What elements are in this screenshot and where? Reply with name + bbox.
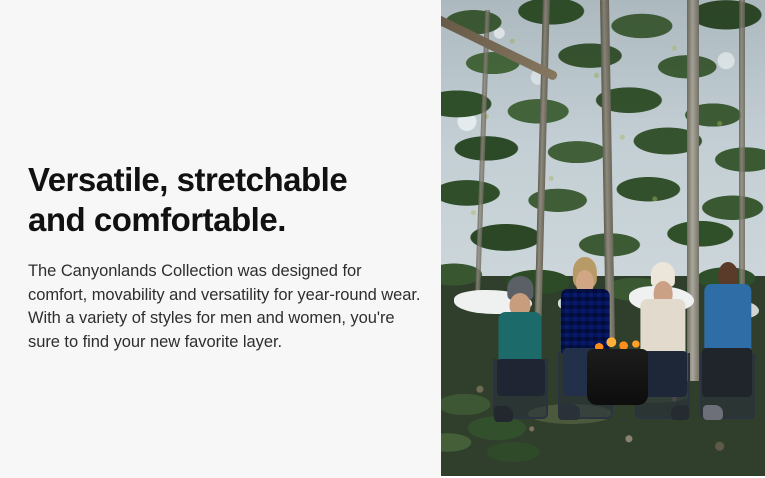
boot xyxy=(703,405,723,421)
boot xyxy=(558,404,580,420)
promo-banner: Versatile, stretchable and comfortable. … xyxy=(0,0,765,478)
campfire-forest-photo xyxy=(441,0,765,476)
legs xyxy=(702,348,752,397)
legs xyxy=(497,359,544,396)
person-teal xyxy=(493,276,548,419)
fire-bowl xyxy=(587,349,649,405)
text-block: Versatile, stretchable and comfortable. … xyxy=(28,160,428,354)
body-copy: The Canyonlands Collection was designed … xyxy=(28,260,423,354)
fire-pit xyxy=(587,333,649,404)
boot xyxy=(494,406,513,422)
page-title: Versatile, stretchable and comfortable. xyxy=(28,160,428,240)
person-blue xyxy=(700,262,755,419)
teal-jacket xyxy=(499,312,542,366)
photo-panel xyxy=(441,0,765,478)
text-panel: Versatile, stretchable and comfortable. … xyxy=(0,0,441,478)
blue-jacket xyxy=(704,284,751,353)
boot xyxy=(671,405,690,421)
